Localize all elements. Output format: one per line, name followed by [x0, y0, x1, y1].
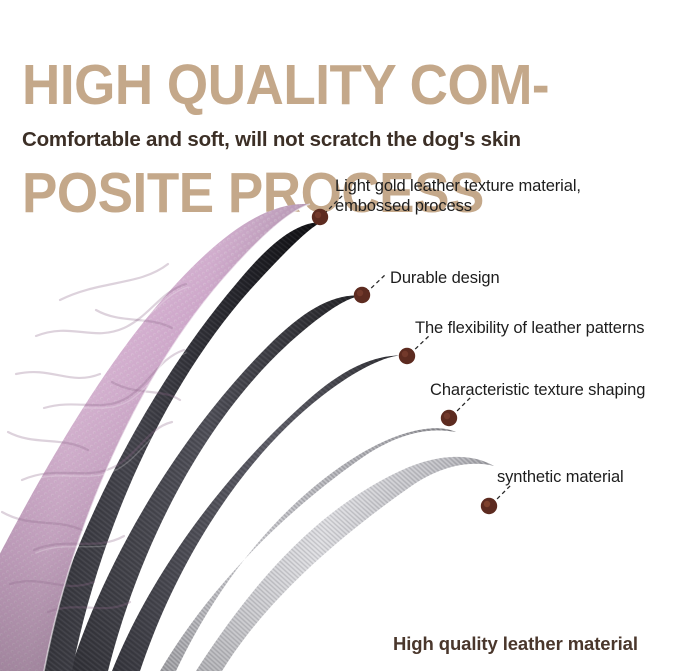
bottom-caption: High quality leather material [393, 633, 638, 655]
leader-lines [324, 194, 512, 504]
headline-line-1: HIGH QUALITY COM- [22, 58, 617, 112]
infographic-canvas: HIGH QUALITY COM- POSITE PROCESS Comfort… [0, 0, 679, 671]
subtitle: Comfortable and soft, will not scratch t… [22, 128, 521, 152]
callout-light-gold-leather: Light gold leather texture material, emb… [335, 176, 581, 216]
callout-durable-design: Durable design [390, 268, 500, 288]
product-layers-illustration [0, 160, 679, 671]
callout-synthetic-material: synthetic material [497, 467, 624, 487]
callout-texture-shaping: Characteristic texture shaping [430, 380, 645, 400]
callout-leather-flexibility: The flexibility of leather patterns [415, 318, 644, 338]
